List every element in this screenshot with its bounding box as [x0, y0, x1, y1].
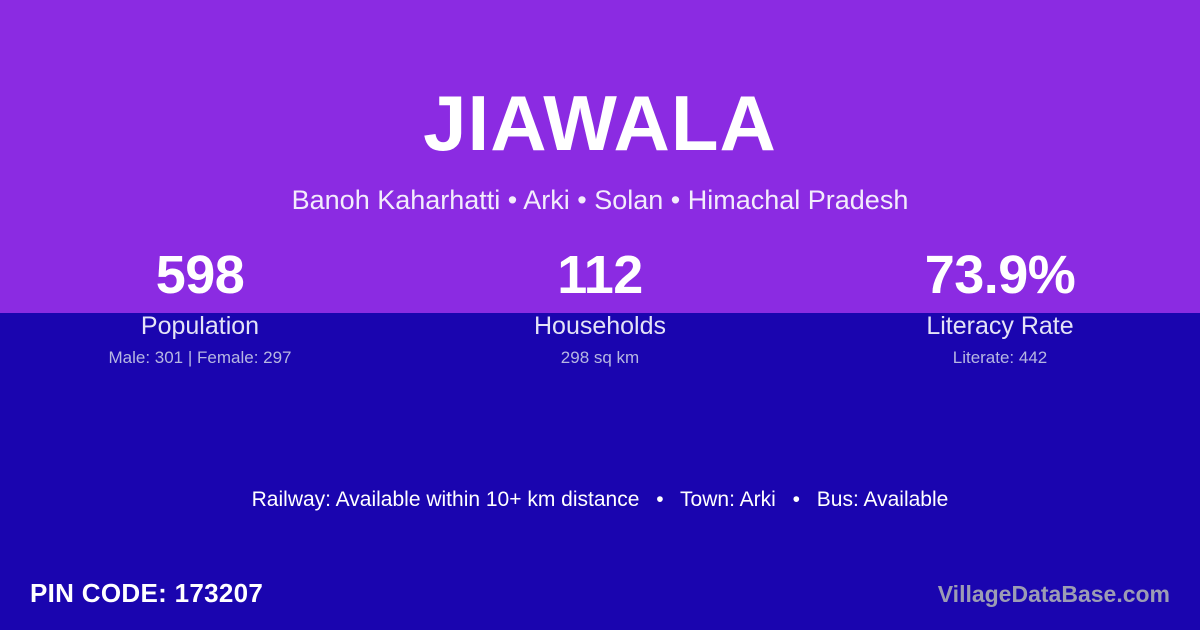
stat-sublabel: 298 sq km [400, 341, 800, 368]
stat-sublabel: Male: 301 | Female: 297 [0, 341, 400, 368]
facility-railway: Railway: Available within 10+ km distanc… [252, 488, 640, 511]
stat-label: Population [0, 305, 400, 341]
facility-separator: • [645, 485, 674, 515]
site-branding: VillageDataBase.com [938, 578, 1170, 610]
stat-households: 112 Households 298 sq km [400, 245, 800, 385]
page-title: JIAWALA [0, 84, 1200, 162]
pin-code: PIN CODE: 173207 [30, 576, 263, 610]
breadcrumb: Banoh Kaharhatti • Arki • Solan • Himach… [0, 184, 1200, 216]
stat-label: Households [400, 305, 800, 341]
stat-label: Literacy Rate [800, 305, 1200, 341]
stat-sublabel: Literate: 442 [800, 341, 1200, 368]
village-info-card: JIAWALA Banoh Kaharhatti • Arki • Solan … [0, 0, 1200, 630]
facility-town: Town: Arki [680, 488, 776, 511]
stat-value: 598 [0, 245, 400, 305]
stat-literacy-rate: 73.9% Literacy Rate Literate: 442 [800, 245, 1200, 385]
card-header: JIAWALA Banoh Kaharhatti • Arki • Solan … [0, 0, 1200, 245]
stats-row: 598 Population Male: 301 | Female: 297 1… [0, 245, 1200, 385]
stat-population: 598 Population Male: 301 | Female: 297 [0, 245, 400, 385]
facility-bus: Bus: Available [817, 488, 949, 511]
facilities-row: Railway: Available within 10+ km distanc… [0, 485, 1200, 515]
stat-value: 73.9% [800, 245, 1200, 305]
stat-value: 112 [400, 245, 800, 305]
facility-separator: • [782, 485, 811, 515]
card-footer: PIN CODE: 173207 VillageDataBase.com [0, 568, 1200, 630]
